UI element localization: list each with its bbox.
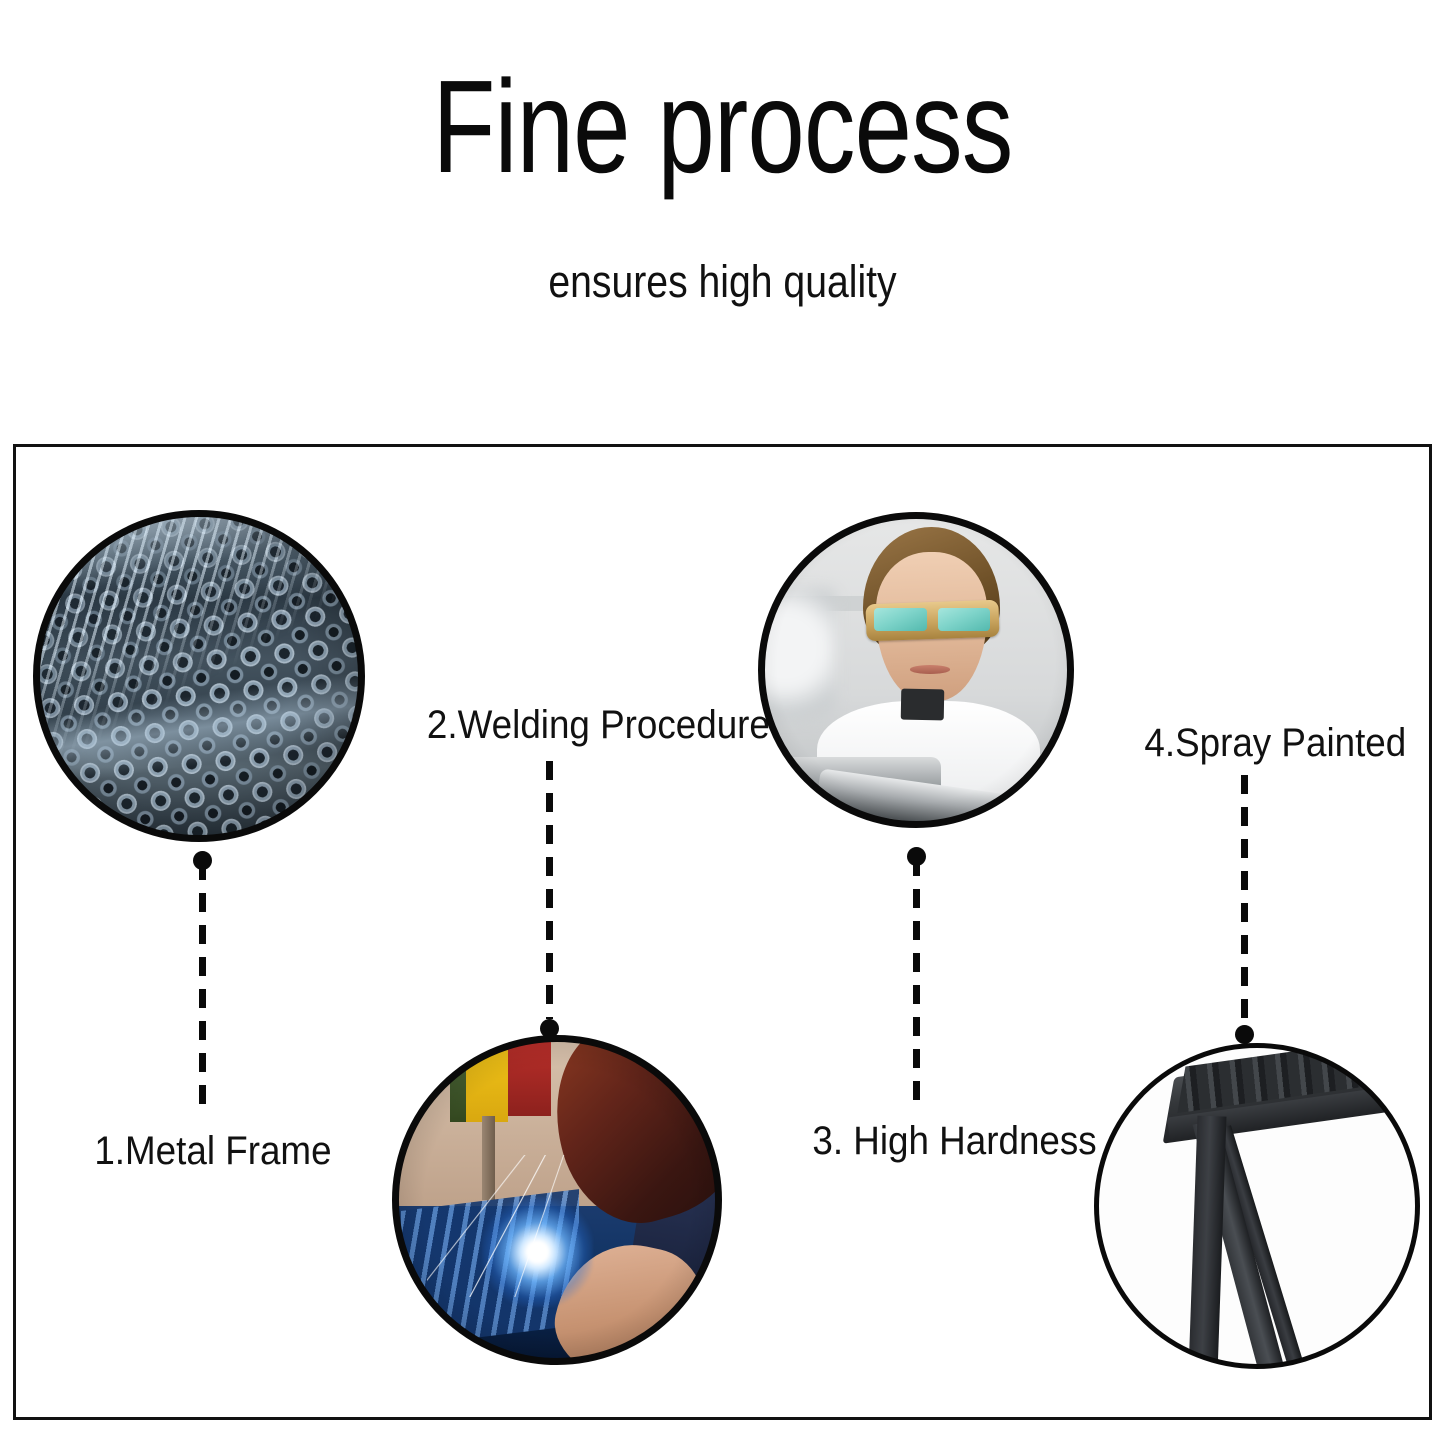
step-label-spray-painted: 4.Spray Painted xyxy=(1144,721,1406,765)
connector-dot-welding-procedure xyxy=(540,1019,559,1038)
step-label-metal-frame: 1.Metal Frame xyxy=(94,1129,331,1173)
connector-dot-spray-painted xyxy=(1235,1025,1254,1044)
connector-line-metal-frame xyxy=(199,861,206,1109)
connector-line-high-hardness xyxy=(913,857,920,1103)
step-label-welding-procedure: 2.Welding Procedure xyxy=(427,703,770,747)
step-photo-metal-frame xyxy=(36,513,362,839)
step-label-high-hardness: 3. High Hardness xyxy=(812,1119,1096,1163)
step-photo-high-hardness xyxy=(761,515,1071,825)
welding-vignette xyxy=(395,1038,719,1362)
connector-line-welding-procedure xyxy=(546,761,553,1019)
step-photo-spray-painted xyxy=(1096,1045,1418,1367)
page-subtitle: ensures high quality xyxy=(94,255,1351,309)
process-panel: 1.Metal Frame 2.Welding Procedure xyxy=(13,444,1432,1420)
infographic-page: Fine process ensures high quality 1.Meta… xyxy=(0,0,1445,1445)
lab-vignette xyxy=(761,515,1071,825)
page-title: Fine process xyxy=(159,58,1286,197)
connector-line-spray-painted xyxy=(1241,775,1248,1025)
step-photo-welding-procedure xyxy=(395,1038,719,1362)
tubes-vignette xyxy=(36,513,362,839)
